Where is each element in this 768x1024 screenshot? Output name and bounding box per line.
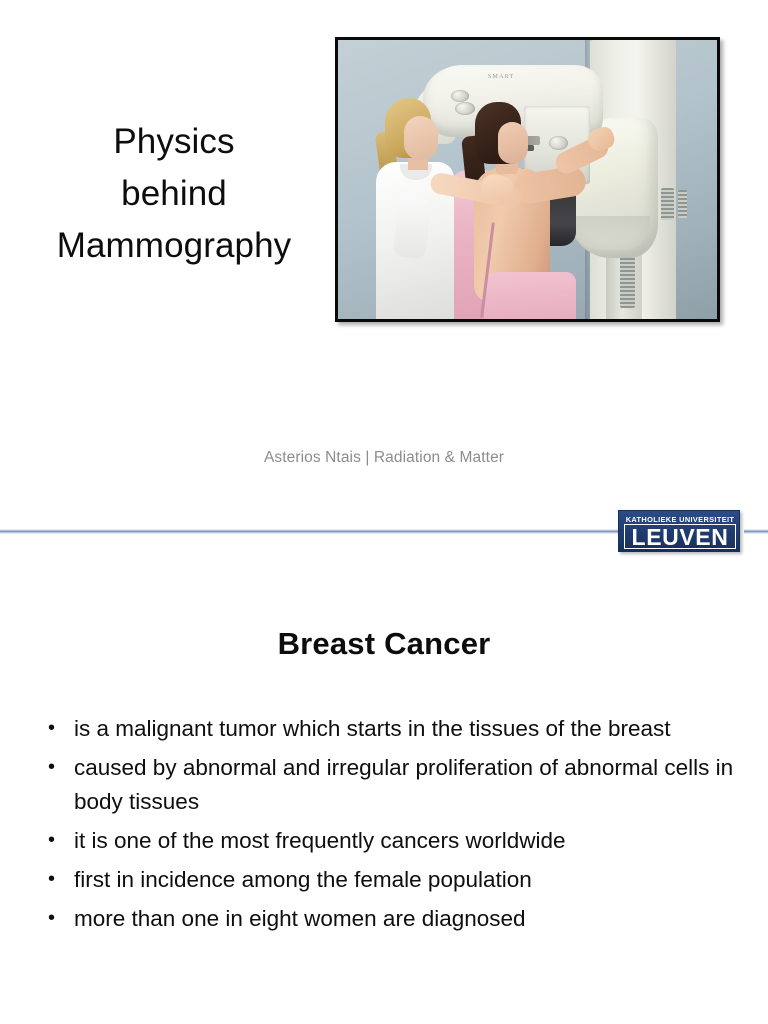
list-item: caused by abnormal and irregular prolife… bbox=[42, 751, 742, 819]
slide-deck-page: Physics behind Mammography SMART bbox=[0, 0, 768, 1024]
mammography-photo: SMART bbox=[335, 37, 720, 322]
machine-knob bbox=[455, 102, 475, 115]
list-item: more than one in eight women are diagnos… bbox=[42, 902, 742, 936]
title-line-2: behind bbox=[18, 168, 330, 220]
photo-scene: SMART bbox=[338, 40, 717, 319]
patient-gown-bottom bbox=[484, 272, 576, 319]
content-heading: Breast Cancer bbox=[0, 626, 768, 662]
machine-brand-label: SMART bbox=[488, 74, 514, 80]
logo-university-text: KATHOLIEKE UNIVERSITEIT bbox=[619, 515, 740, 524]
bullet-list: is a malignant tumor which starts in the… bbox=[42, 712, 742, 941]
title-slide: Physics behind Mammography SMART bbox=[0, 0, 768, 560]
machine-vent bbox=[661, 188, 674, 220]
technologist-face bbox=[404, 116, 438, 160]
author-credit: Asterios Ntais | Radiation & Matter bbox=[0, 449, 768, 467]
content-slide: Breast Cancer is a malignant tumor which… bbox=[0, 560, 768, 1024]
list-item: it is one of the most frequently cancers… bbox=[42, 824, 742, 858]
list-item: first in incidence among the female popu… bbox=[42, 863, 742, 897]
list-item: is a malignant tumor which starts in the… bbox=[42, 712, 742, 746]
title-line-3: Mammography bbox=[18, 220, 330, 272]
page-title: Physics behind Mammography bbox=[18, 116, 330, 272]
ku-leuven-logo: KATHOLIEKE UNIVERSITEIT LEUVEN bbox=[618, 510, 740, 552]
machine-vent bbox=[678, 190, 687, 218]
patient-face bbox=[498, 122, 528, 164]
title-line-1: Physics bbox=[18, 116, 330, 168]
machine-knob bbox=[451, 90, 469, 102]
logo-leuven-text: LEUVEN bbox=[624, 524, 736, 549]
technologist-arm bbox=[393, 196, 431, 259]
machine-knob bbox=[549, 136, 568, 150]
